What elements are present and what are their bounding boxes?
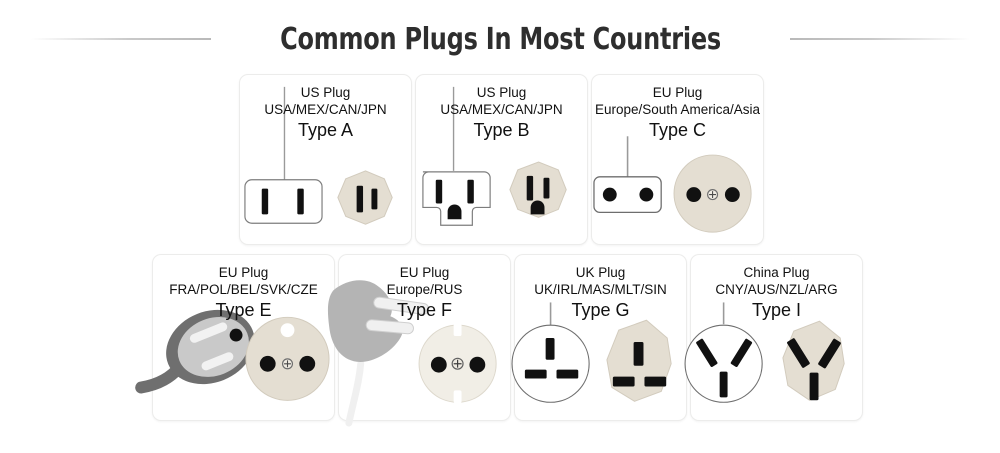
socket-ground-pin xyxy=(281,323,295,337)
socket-slot-earth xyxy=(810,373,819,401)
plug-card-type-i[interactable]: China Plug CNY/AUS/NZL/ARG Type I xyxy=(690,254,863,421)
socket-hole-right xyxy=(725,187,740,202)
title-rule-right xyxy=(790,38,970,40)
plug-card-type-a[interactable]: US Plug USA/MEX/CAN/JPN Type A xyxy=(239,74,412,245)
type-f-illustration xyxy=(339,255,510,420)
socket-earth-clip-top xyxy=(454,323,462,336)
plug-pin-left xyxy=(262,189,268,215)
type-b-illustration xyxy=(416,75,587,244)
plug-pin-right xyxy=(557,370,579,379)
plug-pin-earth xyxy=(720,372,728,398)
type-g-illustration xyxy=(515,255,686,420)
socket-body xyxy=(338,171,392,224)
socket-hole-right xyxy=(299,356,315,372)
socket-slot-right xyxy=(371,189,377,210)
socket-ground-hole xyxy=(531,201,545,215)
socket-slot-left xyxy=(613,377,635,387)
plug-ground-pin xyxy=(448,204,462,219)
plug-body xyxy=(512,325,589,402)
socket-slot-left xyxy=(357,186,363,213)
socket-slot-earth xyxy=(634,342,644,366)
page-title: Common Plugs In Most Countries xyxy=(280,22,721,57)
plug-pin-left xyxy=(436,180,442,204)
plug-ground-hole xyxy=(230,329,243,342)
plug-card-type-c[interactable]: EU Plug Europe/South America/Asia Type C xyxy=(591,74,764,245)
type-e-illustration xyxy=(153,255,334,420)
socket-hole-left xyxy=(260,356,276,372)
plug-cable xyxy=(349,364,361,423)
socket-hole-right xyxy=(469,357,485,373)
plug-pin-right xyxy=(467,180,473,204)
plug-row-2: EU Plug FRA/POL/BEL/SVK/CZE Type E EU Pl xyxy=(152,254,863,421)
socket-hole-left xyxy=(431,357,447,373)
plug-pin-right xyxy=(639,188,653,202)
plug-pin-left xyxy=(525,370,547,379)
plug-row-1: US Plug USA/MEX/CAN/JPN Type A US Plug U… xyxy=(239,74,764,245)
plug-pin-left xyxy=(603,188,617,202)
plug-card-type-f[interactable]: EU Plug Europe/RUS Type F xyxy=(338,254,511,421)
plug-pin-right xyxy=(297,189,303,215)
plug-card-type-e[interactable]: EU Plug FRA/POL/BEL/SVK/CZE Type E xyxy=(152,254,335,421)
socket-earth-clip-bottom xyxy=(454,390,462,403)
socket-hole-left xyxy=(686,187,701,202)
plug-card-type-g[interactable]: UK Plug UK/IRL/MAS/MLT/SIN Type G xyxy=(514,254,687,421)
socket-slot-right xyxy=(543,178,549,199)
page-header: Common Plugs In Most Countries xyxy=(0,18,1000,60)
type-i-illustration xyxy=(691,255,862,420)
title-rule-left xyxy=(31,38,211,40)
type-c-illustration xyxy=(592,75,763,244)
plug-pin-earth xyxy=(546,338,555,360)
plug-card-type-b[interactable]: US Plug USA/MEX/CAN/JPN Type B xyxy=(415,74,588,245)
type-a-illustration xyxy=(240,75,411,244)
socket-slot-right xyxy=(644,377,666,387)
socket-slot-left xyxy=(527,176,533,201)
plug-body xyxy=(245,180,322,223)
